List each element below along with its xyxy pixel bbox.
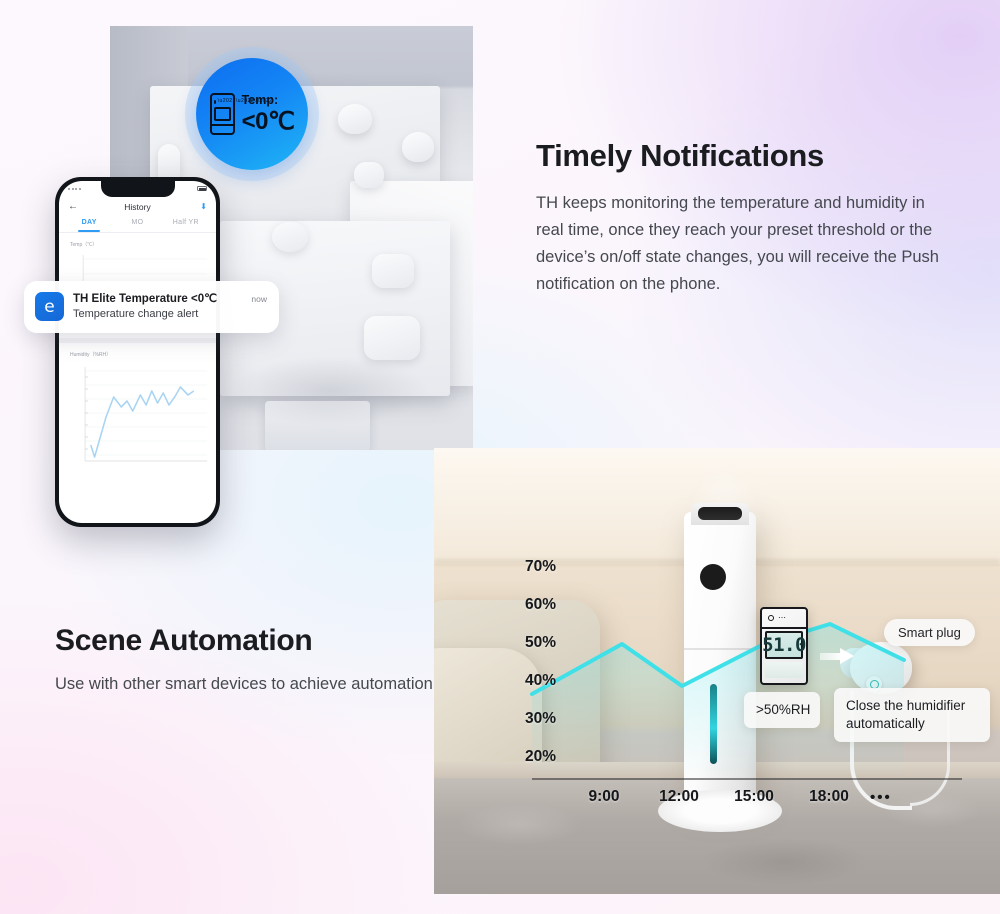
th-humidity-reading: 51.0 <box>762 634 806 656</box>
phone-nav-bar: ← History ⬇ <box>59 196 216 219</box>
badge-temp-label: Temp: <box>242 94 295 107</box>
th-dots-icon: ⋯ <box>778 614 787 622</box>
x-tick-0900: 9:00 <box>578 788 630 806</box>
timely-notifications-heading: Timely Notifications <box>536 138 956 174</box>
phone-mockup: ← History ⬇ DAY MO Half YR Temp（℃） <box>55 177 220 527</box>
timely-notifications-section: Timely Notifications TH keeps monitoring… <box>536 138 956 298</box>
device-led-icon <box>214 100 216 104</box>
notification-timestamp: now <box>251 292 267 304</box>
device-base-icon <box>212 124 233 133</box>
x-axis-ellipsis: ••• <box>870 789 892 806</box>
tab-day[interactable]: DAY <box>65 219 113 232</box>
tab-half-year[interactable]: Half YR <box>162 219 210 232</box>
tab-month[interactable]: MO <box>113 219 161 232</box>
humidity-chart-card: Humidity（%RH） <box>59 343 216 482</box>
th-lcd-screen: 51.0 <box>765 631 803 659</box>
room-object-blob-6 <box>364 316 420 360</box>
phone-notch <box>101 181 175 197</box>
push-notification-card[interactable]: e TH Elite Temperature <0℃ Temperature c… <box>24 281 279 333</box>
temperature-alert-badge: \u2022\u2022\u2022 Temp: <0℃ <box>196 58 308 170</box>
y-tick-40: 40% <box>514 672 556 690</box>
x-tick-1800: 18:00 <box>803 788 855 806</box>
action-label: Close the humidifier automatically <box>834 688 990 742</box>
y-tick-20: 20% <box>514 748 556 766</box>
page-title: History <box>84 202 191 212</box>
room-object-blob-5 <box>372 254 414 288</box>
signal-icon <box>68 188 81 190</box>
scene-automation-photo: ⋯ 51.0 70% 60% 50% 40% 30% 20% 9:00 12:0… <box>434 448 1000 894</box>
download-icon[interactable]: ⬇ <box>191 202 207 211</box>
room-shadow-2 <box>230 356 430 426</box>
scene-automation-heading: Scene Automation <box>55 624 455 658</box>
th-device-icon: \u2022\u2022\u2022 <box>210 93 235 135</box>
scene-automation-body: Use with other smart devices to achieve … <box>55 671 455 697</box>
device-screen-icon <box>214 107 231 121</box>
history-range-tabs: DAY MO Half YR <box>59 219 216 233</box>
badge-temp-value: <0℃ <box>242 110 295 134</box>
threshold-label: >50%RH <box>744 692 820 728</box>
flow-arrow-icon <box>820 648 854 665</box>
y-tick-60: 60% <box>514 596 556 614</box>
app-icon: e <box>35 292 64 321</box>
y-tick-50: 50% <box>514 634 556 652</box>
notification-title: TH Elite Temperature <0℃ <box>73 292 242 306</box>
scene-automation-section: Scene Automation Use with other smart de… <box>55 624 455 697</box>
battery-icon <box>197 186 207 191</box>
humidity-chart <box>66 361 209 473</box>
timely-notifications-body: TH keeps monitoring the temperature and … <box>536 190 956 298</box>
room-object-cup-1 <box>338 104 372 134</box>
humidity-chart-title: Humidity（%RH） <box>66 351 209 358</box>
notification-subtitle: Temperature change alert <box>73 308 242 320</box>
humidity-trend-line <box>434 448 1000 894</box>
x-tick-1200: 12:00 <box>653 788 705 806</box>
th-device-in-scene: ⋯ 51.0 <box>760 607 808 685</box>
room-object-blob-2 <box>272 222 308 252</box>
phone-screen: ← History ⬇ DAY MO Half YR Temp（℃） <box>59 181 216 523</box>
temperature-chart-title: Temp（℃） <box>66 241 209 248</box>
notification-body: TH Elite Temperature <0℃ Temperature cha… <box>73 292 242 320</box>
room-object-cup-2 <box>402 132 434 162</box>
x-axis-line <box>532 778 962 780</box>
badge-text: Temp: <0℃ <box>242 94 295 134</box>
back-arrow-icon[interactable]: ← <box>68 201 84 212</box>
th-device-top: ⋯ <box>762 609 806 629</box>
th-led-icon <box>768 615 774 621</box>
th-device-bottom <box>765 662 803 678</box>
x-tick-1500: 15:00 <box>728 788 780 806</box>
room-object-blob-1 <box>354 162 384 188</box>
y-tick-30: 30% <box>514 710 556 728</box>
y-tick-70: 70% <box>514 558 556 576</box>
smart-plug-label: Smart plug <box>884 619 975 646</box>
